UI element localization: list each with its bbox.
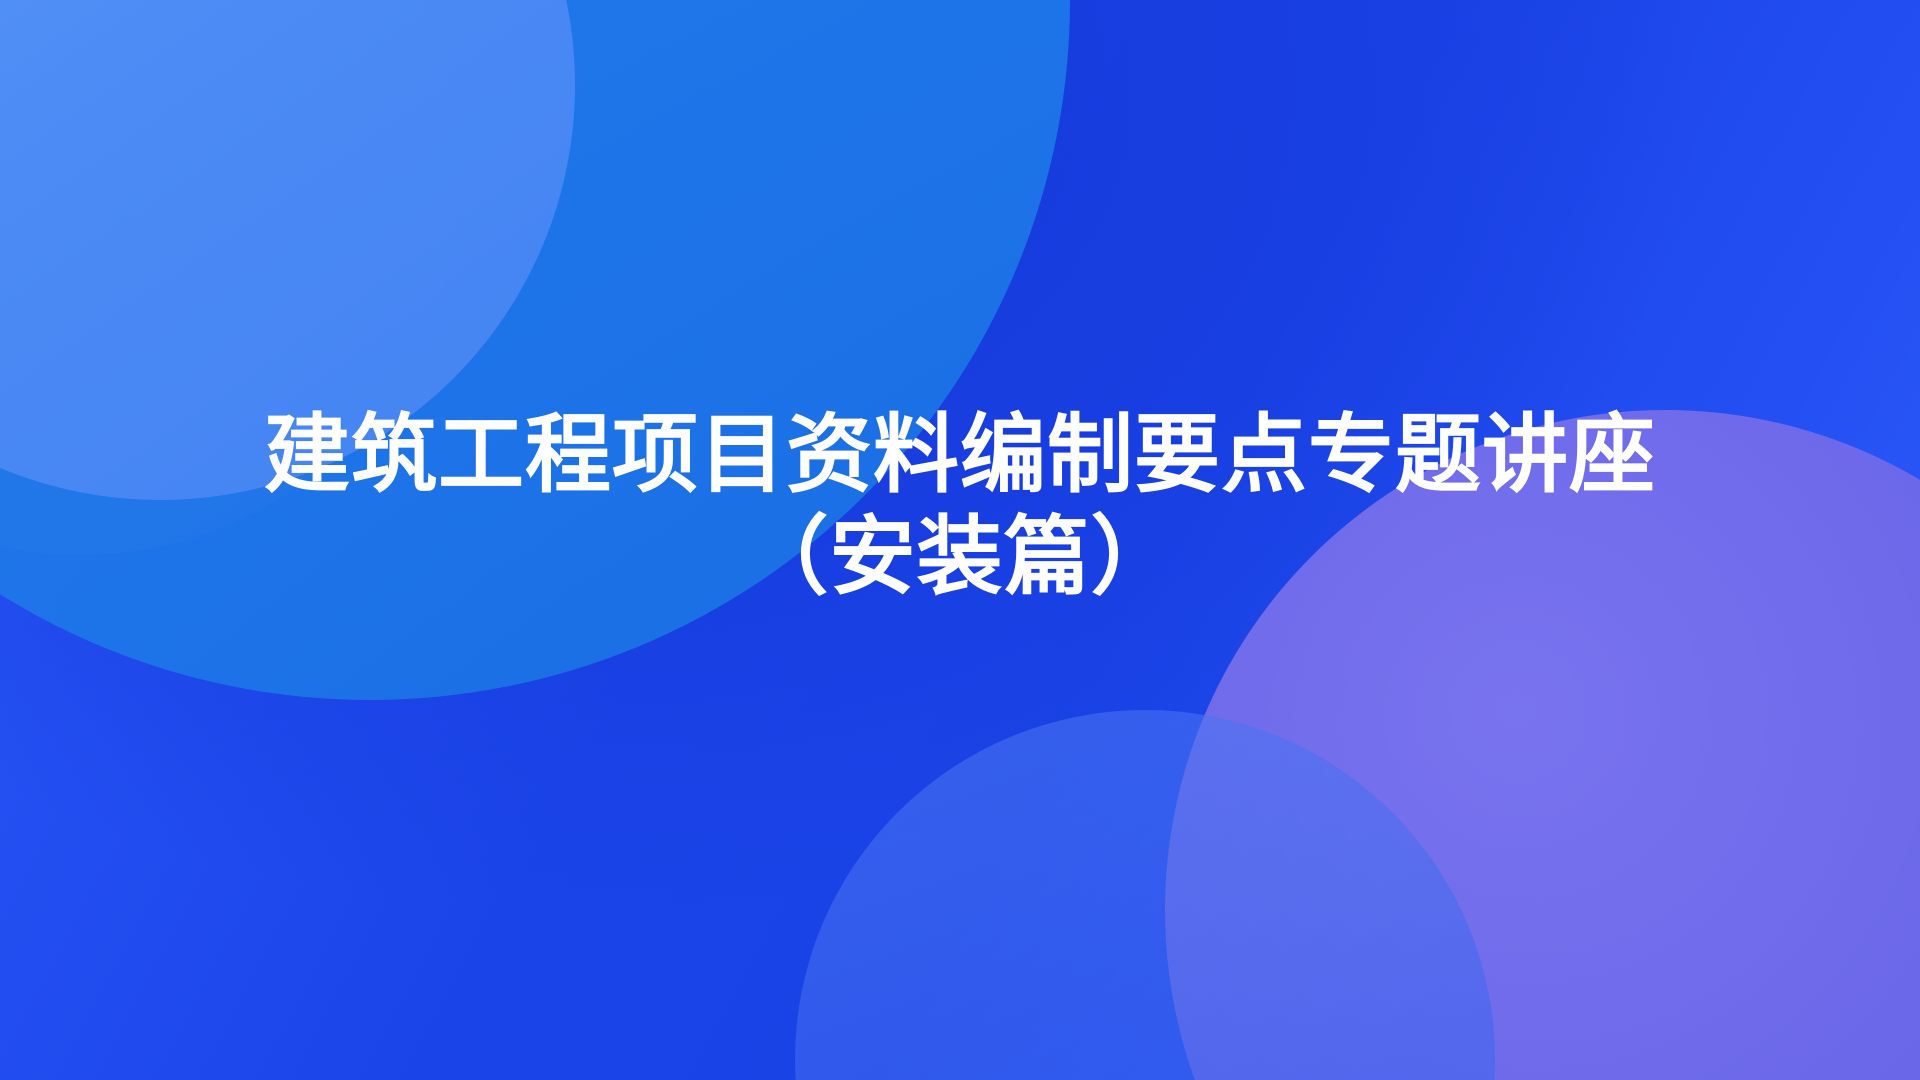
slide-title-line-2: （安装篇） [0,506,1920,608]
slide-title: 建筑工程项目资料编制要点专题讲座 （安装篇） [0,404,1920,608]
background-light-blue-circle-bottom [795,710,1495,1080]
slide-title-line-1: 建筑工程项目资料编制要点专题讲座 [0,404,1920,506]
title-slide: 建筑工程项目资料编制要点专题讲座 （安装篇） [0,0,1920,1080]
